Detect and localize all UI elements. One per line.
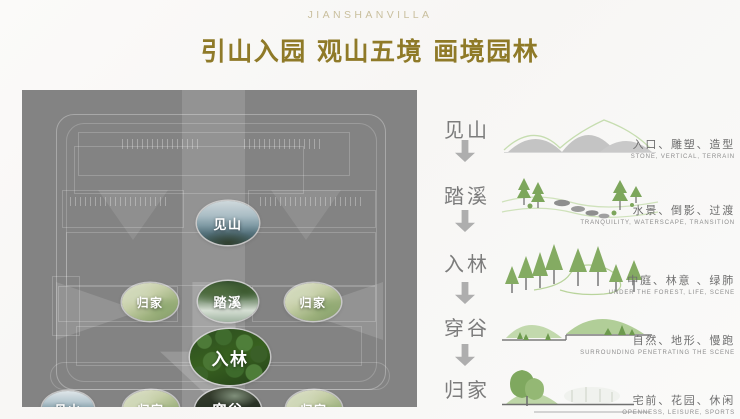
plan-badge-label: 踏溪 <box>213 292 242 311</box>
journey-step-description: 自然、地形、慢跑 SURROUNDING PENETRATING THE SCE… <box>575 332 735 356</box>
description-cn: 入口、雕塑、造型 <box>575 136 735 152</box>
description-cn: 中庭、林意 、绿肺 <box>575 272 735 288</box>
journey-step-description: 水景、倒影、过渡 TRANQUILITY, WATERSCAPE, TRANSI… <box>575 202 735 226</box>
journey-step-description: 中庭、林意 、绿肺 UNDER THE FOREST, LIFE, SCENE <box>575 272 735 296</box>
journey-step-description: 宅前、花园、休闲 OPENNESS, LEISURE, SPORTS <box>575 392 735 416</box>
plan-badge-guijia-right-bottom[interactable]: 归家 <box>286 390 342 407</box>
journey-step-jianshan: 见山 入口、雕塑、造型 STONE, VERTICAL, TERRAIN <box>430 106 735 164</box>
description-cn: 水景、倒影、过渡 <box>575 202 735 218</box>
plan-badge-label: 见山 <box>213 214 242 233</box>
journey-step-label: 见山 <box>444 114 490 143</box>
description-en: SURROUNDING PENETRATING THE SCENE <box>575 350 735 356</box>
plan-badge-guijia-left-mid[interactable]: 归家 <box>122 283 178 321</box>
plan-badge-rulin-center[interactable]: 入林 <box>190 329 270 385</box>
brand-eyebrow: JIANSHANVILLA <box>0 9 740 21</box>
description-cn: 宅前、花园、休闲 <box>575 392 735 408</box>
description-en: TRANQUILITY, WATERSCAPE, TRANSITION <box>575 220 735 226</box>
journey-step-label: 归家 <box>444 374 490 403</box>
slide-root: JIANSHANVILLA 引山入园 观山五境 画境园林 <box>0 0 740 419</box>
journey-step-description: 入口、雕塑、造型 STONE, VERTICAL, TERRAIN <box>575 136 735 160</box>
plan-badge-label: 穿谷 <box>213 400 244 407</box>
description-en: OPENNESS, LEISURE, SPORTS <box>575 410 735 416</box>
site-plan-panel: 见山 归家 踏溪 归家 入林 见山 归家 穿谷 <box>22 90 417 407</box>
plan-badge-label: 归家 <box>300 401 327 408</box>
plan-badge-jianshan-left[interactable]: 见山 <box>42 391 94 407</box>
journey-step-label: 踏溪 <box>444 180 490 209</box>
plan-badge-guijia-left-bottom[interactable]: 归家 <box>123 390 179 407</box>
journey-sequence: 见山 入口、雕塑、造型 STONE, VERTICAL, TERRAIN 踏溪 <box>430 92 735 412</box>
plan-badge-guijia-right-mid[interactable]: 归家 <box>285 283 341 321</box>
journey-step-chuangu: 穿谷 自然、地形、慢跑 SURR <box>430 304 735 362</box>
plan-badge-label: 归家 <box>137 401 164 408</box>
plan-badge-jianshan-top[interactable]: 见山 <box>197 201 259 245</box>
plan-badge-label: 入林 <box>212 345 249 370</box>
plan-badge-taoxi[interactable]: 踏溪 <box>198 281 258 322</box>
description-en: UNDER THE FOREST, LIFE, SCENE <box>575 290 735 296</box>
description-en: STONE, VERTICAL, TERRAIN <box>575 154 735 160</box>
page-title: 引山入园 观山五境 画境园林 <box>0 32 740 68</box>
journey-step-guijia: 归家 <box>430 366 735 419</box>
plan-badge-label: 见山 <box>54 401 81 408</box>
journey-step-taoxi: 踏溪 <box>430 172 735 230</box>
journey-step-label: 穿谷 <box>444 312 490 341</box>
description-cn: 自然、地形、慢跑 <box>575 332 735 348</box>
journey-step-label: 入林 <box>444 248 490 277</box>
plan-badge-label: 归家 <box>136 294 163 311</box>
plan-badge-label: 归家 <box>299 294 326 311</box>
site-plan-drawing: 见山 归家 踏溪 归家 入林 见山 归家 穿谷 <box>22 90 417 407</box>
journey-step-rulin: 入林 <box>430 240 735 298</box>
